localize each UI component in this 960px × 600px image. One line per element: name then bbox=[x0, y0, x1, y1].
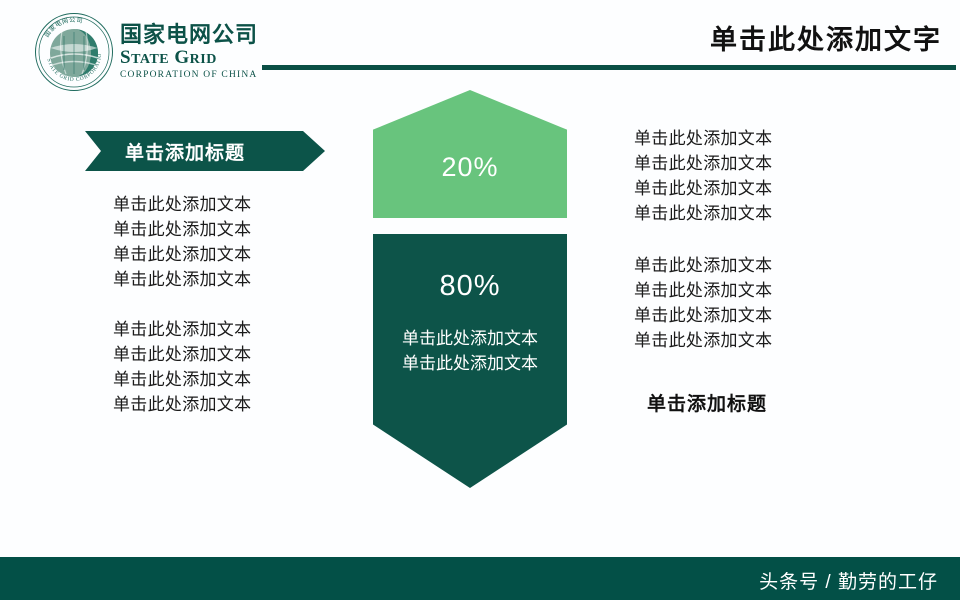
logo-wordmark: 国家电网公司 STATE GRID CORPORATION OF CHINA bbox=[120, 23, 258, 81]
text-line: 单击此处添加文本 bbox=[113, 193, 251, 218]
text-line: 单击此处添加文本 bbox=[113, 318, 251, 343]
footer-credit-text: 头条号 / 勤劳的工仔 bbox=[759, 567, 938, 594]
text-line: 单击此处添加文本 bbox=[634, 304, 772, 329]
pentagon-bottom-text: 单击此处添加文本 单击此处添加文本 bbox=[373, 327, 567, 376]
text-line: 单击此处添加文本 bbox=[634, 329, 772, 354]
pentagon-shape-80-percent[interactable]: 80% 单击此处添加文本 单击此处添加文本 bbox=[373, 234, 567, 488]
text-line: 单击此处添加文本 bbox=[634, 152, 772, 177]
right-text-block-1: 单击此处添加文本 单击此处添加文本 单击此处添加文本 单击此处添加文本 bbox=[634, 127, 772, 227]
pentagon-bottom-value: 80% bbox=[373, 270, 567, 303]
left-section-banner-label: 单击添加标题 bbox=[125, 138, 245, 165]
logo-chinese-name: 国家电网公司 bbox=[120, 23, 258, 48]
left-text-block-2: 单击此处添加文本 单击此处添加文本 单击此处添加文本 单击此处添加文本 bbox=[113, 318, 251, 418]
text-line: 单击此处添加文本 bbox=[113, 368, 251, 393]
text-line: 单击此处添加文本 bbox=[634, 127, 772, 152]
logo-english-name: STATE GRID bbox=[120, 48, 258, 69]
left-section-banner[interactable]: 单击添加标题 bbox=[85, 131, 325, 171]
text-line: 单击此处添加文本 bbox=[634, 202, 772, 227]
text-line: 单击此处添加文本 bbox=[113, 343, 251, 368]
slide-canvas: 国家电网公司 STATE GRID CORPORATION OF 国家电网公司 … bbox=[0, 0, 960, 600]
text-line: 单击此处添加文本 bbox=[373, 327, 567, 352]
text-line: 单击此处添加文本 bbox=[113, 393, 251, 418]
right-section-heading: 单击添加标题 bbox=[647, 389, 767, 416]
pentagon-top-value: 20% bbox=[373, 152, 567, 183]
page-title: 单击此处添加文字 bbox=[710, 18, 942, 57]
text-line: 单击此处添加文本 bbox=[634, 177, 772, 202]
text-line: 单击此处添加文本 bbox=[113, 243, 251, 268]
right-text-block-2: 单击此处添加文本 单击此处添加文本 单击此处添加文本 单击此处添加文本 bbox=[634, 254, 772, 354]
footer-bar: 头条号 / 勤劳的工仔 bbox=[0, 557, 960, 600]
header-divider bbox=[262, 65, 956, 70]
text-line: 单击此处添加文本 bbox=[373, 352, 567, 377]
text-line: 单击此处添加文本 bbox=[634, 279, 772, 304]
state-grid-logo: 国家电网公司 STATE GRID CORPORATION OF 国家电网公司 … bbox=[34, 11, 264, 93]
state-grid-globe-icon: 国家电网公司 STATE GRID CORPORATION OF bbox=[34, 12, 114, 92]
text-line: 单击此处添加文本 bbox=[113, 218, 251, 243]
left-text-block-1: 单击此处添加文本 单击此处添加文本 单击此处添加文本 单击此处添加文本 bbox=[113, 193, 251, 293]
pentagon-shape-20-percent[interactable]: 20% bbox=[373, 90, 567, 218]
text-line: 单击此处添加文本 bbox=[634, 254, 772, 279]
logo-english-subtitle: CORPORATION OF CHINA bbox=[120, 70, 258, 81]
text-line: 单击此处添加文本 bbox=[113, 268, 251, 293]
